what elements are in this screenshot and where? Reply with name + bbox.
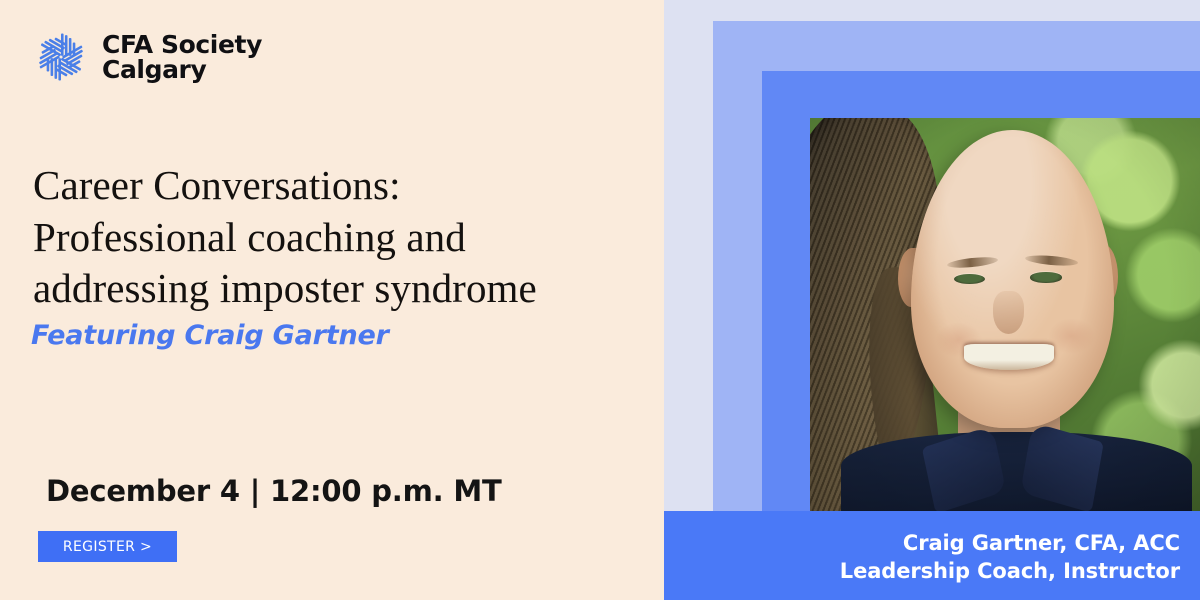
- event-datetime: December 4 | 12:00 p.m. MT: [46, 474, 502, 508]
- headline-line-3: addressing imposter syndrome: [33, 263, 633, 315]
- event-promo-banner: CFA Society Calgary Career Conversations…: [0, 0, 1200, 600]
- page-title: Career Conversations: Professional coach…: [33, 160, 633, 315]
- cfa-pinwheel-icon: [33, 29, 89, 85]
- featuring-subtitle: Featuring Craig Gartner: [31, 320, 389, 351]
- speaker-photo-scene: [810, 118, 1200, 511]
- speaker-caption: Craig Gartner, CFA, ACC Leadership Coach…: [840, 530, 1180, 586]
- speaker-title: Leadership Coach, Instructor: [840, 558, 1180, 586]
- speaker-photo: [810, 118, 1200, 511]
- speaker-caption-band: Craig Gartner, CFA, ACC Leadership Coach…: [664, 511, 1200, 600]
- photo-vignette: [810, 118, 1200, 511]
- logo-wordmark-line-1: CFA Society: [102, 32, 262, 58]
- speaker-image-panel: Craig Gartner, CFA, ACC Leadership Coach…: [664, 0, 1200, 600]
- headline-line-2: Professional coaching and: [33, 212, 633, 264]
- content-panel: CFA Society Calgary Career Conversations…: [0, 0, 664, 600]
- cfa-society-calgary-logo: CFA Society Calgary: [33, 29, 262, 85]
- logo-wordmark: CFA Society Calgary: [102, 32, 262, 83]
- logo-wordmark-line-2: Calgary: [102, 57, 262, 83]
- register-button[interactable]: REGISTER >: [38, 531, 177, 562]
- register-button-label: REGISTER >: [63, 539, 152, 555]
- speaker-name: Craig Gartner, CFA, ACC: [840, 530, 1180, 558]
- headline-line-1: Career Conversations:: [33, 160, 633, 212]
